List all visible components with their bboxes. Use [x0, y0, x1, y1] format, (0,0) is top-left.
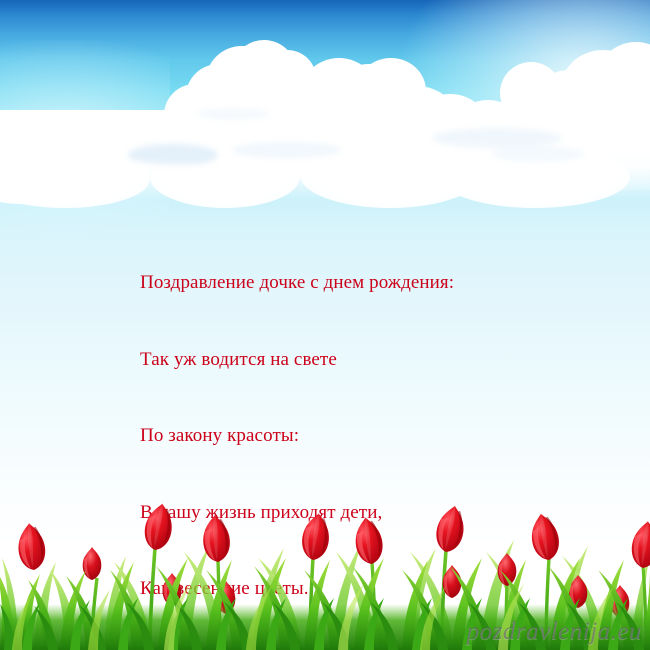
tulip — [433, 503, 468, 554]
poem-line: Поздравление дочке с днем рождения: — [140, 270, 570, 296]
site-watermark: pozdravlenija.eu — [467, 618, 642, 646]
poem-line: По закону красоты: — [140, 423, 570, 449]
tulip — [528, 511, 562, 562]
tulip — [352, 516, 385, 566]
tulip — [630, 520, 650, 570]
tulip-bud — [83, 547, 102, 580]
greeting-card: Поздравление дочке с днем рождения: Так … — [0, 0, 650, 650]
tulip — [16, 522, 47, 572]
tulip — [300, 512, 332, 562]
tulip — [142, 502, 176, 553]
poem-line: Так уж водится на свете — [140, 347, 570, 373]
tulip-bud — [498, 553, 517, 586]
